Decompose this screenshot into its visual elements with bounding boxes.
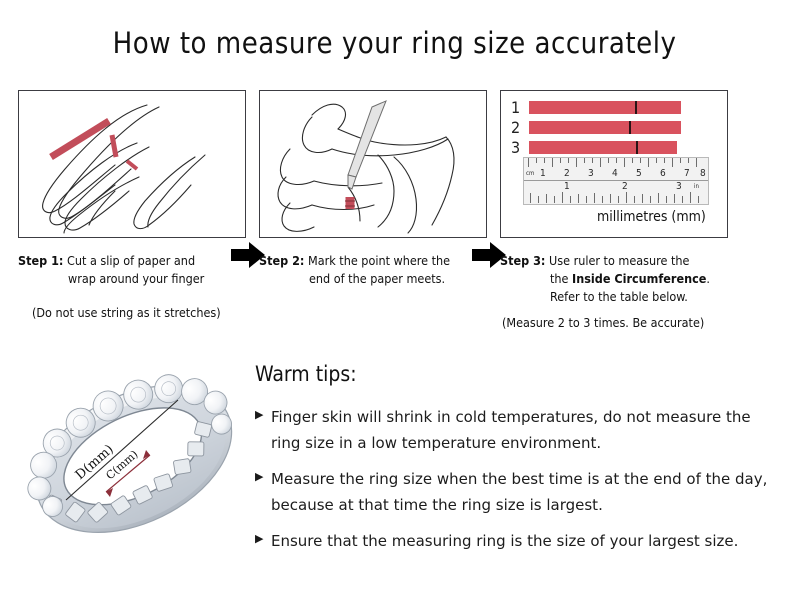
ruler-cm-unit: cm: [526, 170, 534, 177]
strip-bar-1: [529, 101, 681, 114]
ruler-graphic: 1 2 3 4 5 6 7 8 cm 1 2 3 in: [523, 157, 709, 205]
strip-number-2: 2: [511, 120, 529, 136]
step-1-caption: Step 1: Cut a slip of paper and wrap aro…: [18, 252, 246, 288]
step-2-illustration-panel: [259, 90, 487, 238]
ruler-inch-unit: in: [694, 183, 699, 190]
steps-row: Step 1: Cut a slip of paper and wrap aro…: [0, 90, 789, 340]
warm-tips-heading: Warm tips:: [255, 362, 775, 386]
ruler-inch-label-1: 1: [564, 181, 570, 192]
strip-mark-1: [635, 101, 637, 114]
step-3-line-2-prefix: the: [550, 271, 572, 286]
hand-with-paper-strip-icon: [19, 91, 244, 236]
tip-text: Ensure that the measuring ring is the si…: [271, 528, 775, 554]
triangle-bullet-icon: ▶: [255, 466, 271, 482]
strip-bar-2: [529, 121, 681, 134]
strip-mark-3: [636, 141, 638, 154]
step-3-line-3: Refer to the table below.: [500, 288, 728, 306]
ruler-cm-label-5: 5: [636, 168, 642, 179]
measured-strip-row-3: 3: [511, 140, 677, 155]
step-2-label: Step 2:: [259, 253, 304, 268]
ruler-unit-label: millimetres (mm): [597, 209, 706, 225]
tip-item: ▶ Finger skin will shrink in cold temper…: [255, 404, 775, 456]
step-column-1: Step 1: Cut a slip of paper and wrap aro…: [18, 90, 246, 321]
triangle-bullet-icon: ▶: [255, 404, 271, 420]
strip-mark-2: [629, 121, 631, 134]
ruler-cm-label-7: 7: [684, 168, 690, 179]
ruler-inch-scale: 1 2 3 in: [524, 181, 708, 204]
step-1-line-2: wrap around your finger: [18, 270, 246, 288]
ruler-inch-label-2: 2: [622, 181, 628, 192]
step-column-2: Step 2: Mark the point where the end of …: [259, 90, 487, 288]
step-3-line-1: Use ruler to measure the: [549, 253, 689, 268]
tip-item: ▶ Measure the ring size when the best ti…: [255, 466, 775, 518]
ruler-centimetre-scale: 1 2 3 4 5 6 7 8 cm: [524, 158, 708, 181]
ruler-cm-label-8: 8: [700, 168, 706, 179]
step-3-caption: Step 3: Use ruler to measure the the Ins…: [500, 252, 728, 306]
strip-number-3: 3: [511, 140, 529, 156]
step-2-line-1: Mark the point where the: [308, 253, 450, 268]
step-1-illustration-panel: [18, 90, 246, 238]
triangle-bullet-icon: ▶: [255, 528, 271, 544]
step-3-inside-circumference: Inside Circumference: [572, 271, 706, 286]
warm-tips-section: Warm tips: ▶ Finger skin will shrink in …: [255, 362, 775, 564]
ruler-cm-label-3: 3: [588, 168, 594, 179]
tip-item: ▶ Ensure that the measuring ring is the …: [255, 528, 775, 554]
page-title: How to measure your ring size accurately: [0, 26, 789, 60]
step-1-line-1: Cut a slip of paper and: [67, 253, 195, 268]
eternity-ring-icon: D(mm) C(mm): [18, 352, 250, 567]
ruler-cm-label-1: 1: [540, 168, 546, 179]
step-3-line-2: the Inside Circumference.: [500, 270, 728, 288]
step-2-caption: Step 2: Mark the point where the end of …: [259, 252, 487, 288]
step-3-note: (Measure 2 to 3 times. Be accurate): [500, 314, 728, 331]
step-3-illustration-panel: 1 2 3: [500, 90, 728, 238]
step-1-note: (Do not use string as it stretches): [18, 304, 246, 321]
step-3-label: Step 3:: [500, 253, 545, 268]
measured-strip-row-2: 2: [511, 120, 681, 135]
ring-diagram: D(mm) C(mm): [18, 352, 250, 567]
strip-number-1: 1: [511, 100, 529, 116]
tip-text: Measure the ring size when the best time…: [271, 466, 775, 518]
ruler-cm-label-6: 6: [660, 168, 666, 179]
step-1-label: Step 1:: [18, 253, 63, 268]
ruler-inch-label-3: 3: [676, 181, 682, 192]
step-column-3: 1 2 3: [500, 90, 728, 331]
step-2-line-2: end of the paper meets.: [259, 270, 487, 288]
tip-text: Finger skin will shrink in cold temperat…: [271, 404, 775, 456]
measured-strip-row-1: 1: [511, 100, 681, 115]
step-3-line-2-suffix: .: [706, 271, 710, 286]
hand-marking-paper-with-pen-icon: [260, 91, 485, 236]
strip-bar-3: [529, 141, 677, 154]
ruler-cm-label-4: 4: [612, 168, 618, 179]
ruler-cm-label-2: 2: [564, 168, 570, 179]
